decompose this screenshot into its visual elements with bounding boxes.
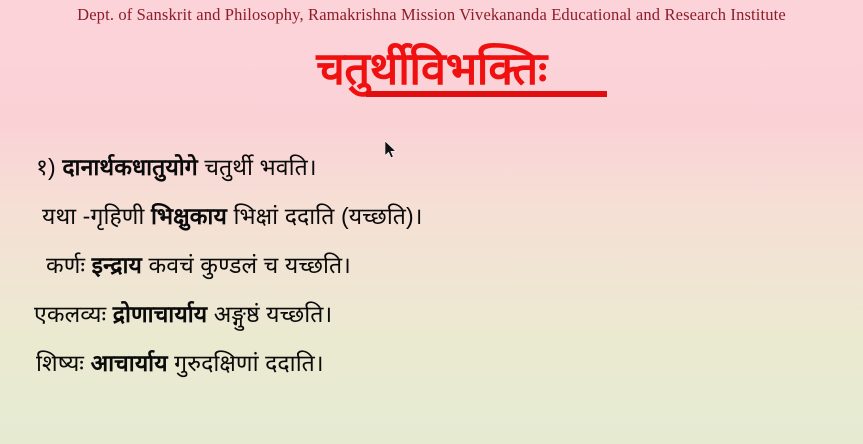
example-line-2-rest: भिक्षां ददाति (यच्छति)। [233,203,422,229]
example-line-4-keyword: द्रोणाचार्याय [113,301,207,327]
rule-line-1-keyword: दानार्थकधातुयोगे [62,154,198,180]
rule-line-1-number: १) [36,154,56,180]
example-line-2-prefix: यथा -गृहिणी [42,203,144,229]
example-line-5-prefix: शिष्यः [36,350,84,376]
rule-line-1-rest: चतुर्थी भवति। [204,154,316,180]
example-line-4: एकलव्यः द्रोणाचार्याय अङ्गुष्ठं यच्छति। [0,290,863,339]
example-line-2: यथा -गृहिणी भिक्षुकाय भिक्षां ददाति (यच्… [0,192,863,241]
slide-body: १) दानार्थकधातुयोगे चतुर्थी भवति। यथा -ग… [0,143,863,388]
rule-line-1: १) दानार्थकधातुयोगे चतुर्थी भवति। [0,143,863,192]
example-line-5-rest: गुरुदक्षिणां ददाति। [174,350,324,376]
example-line-3-prefix: कर्णः [46,252,85,278]
example-line-3-keyword: इन्द्राय [92,252,142,278]
example-line-3-rest: कवचं कुण्डलं च यच्छति। [148,252,351,278]
example-line-5: शिष्यः आचार्याय गुरुदक्षिणां ददाति। [0,339,863,388]
page-title: चतुर्थीविभक्तिः [314,42,548,95]
presentation-slide: Dept. of Sanskrit and Philosophy, Ramakr… [0,0,863,444]
example-line-4-prefix: एकलव्यः [34,301,106,327]
slide-header-institution: Dept. of Sanskrit and Philosophy, Ramakr… [0,4,863,26]
example-line-5-keyword: आचार्याय [91,350,168,376]
example-line-4-rest: अङ्गुष्ठं यच्छति। [214,301,333,327]
example-line-2-keyword: भिक्षुकाय [151,203,227,229]
example-line-3: कर्णः इन्द्राय कवचं कुण्डलं च यच्छति। [0,241,863,290]
title-underline-rule [366,91,607,97]
slide-title-container: चतुर्थीविभक्तिः [0,42,863,95]
